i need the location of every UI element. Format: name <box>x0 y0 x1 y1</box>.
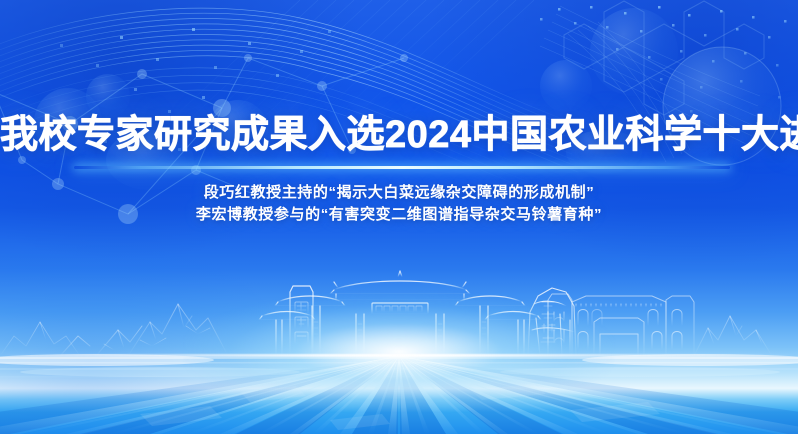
title-divider <box>74 166 730 169</box>
subtitle-line-2: 李宏博教授参与的“有害突变二维图谱指导杂交马铃薯育种” <box>0 204 798 226</box>
subtitle-container: 段巧红教授主持的“揭示大白菜远缘杂交障碍的形成机制” 李宏博教授参与的“有害突变… <box>0 182 798 226</box>
horizon-glow <box>184 292 614 412</box>
subtitle-line-1: 段巧红教授主持的“揭示大白菜远缘杂交障碍的形成机制” <box>0 182 798 204</box>
page-title: 我校专家研究成果入选2024中国农业科学十大进展 <box>0 112 798 158</box>
horizon-line <box>0 354 798 357</box>
promo-banner: 我校专家研究成果入选2024中国农业科学十大进展 段巧红教授主持的“揭示大白菜远… <box>0 0 798 434</box>
headline-container: 我校专家研究成果入选2024中国农业科学十大进展 <box>0 112 798 158</box>
